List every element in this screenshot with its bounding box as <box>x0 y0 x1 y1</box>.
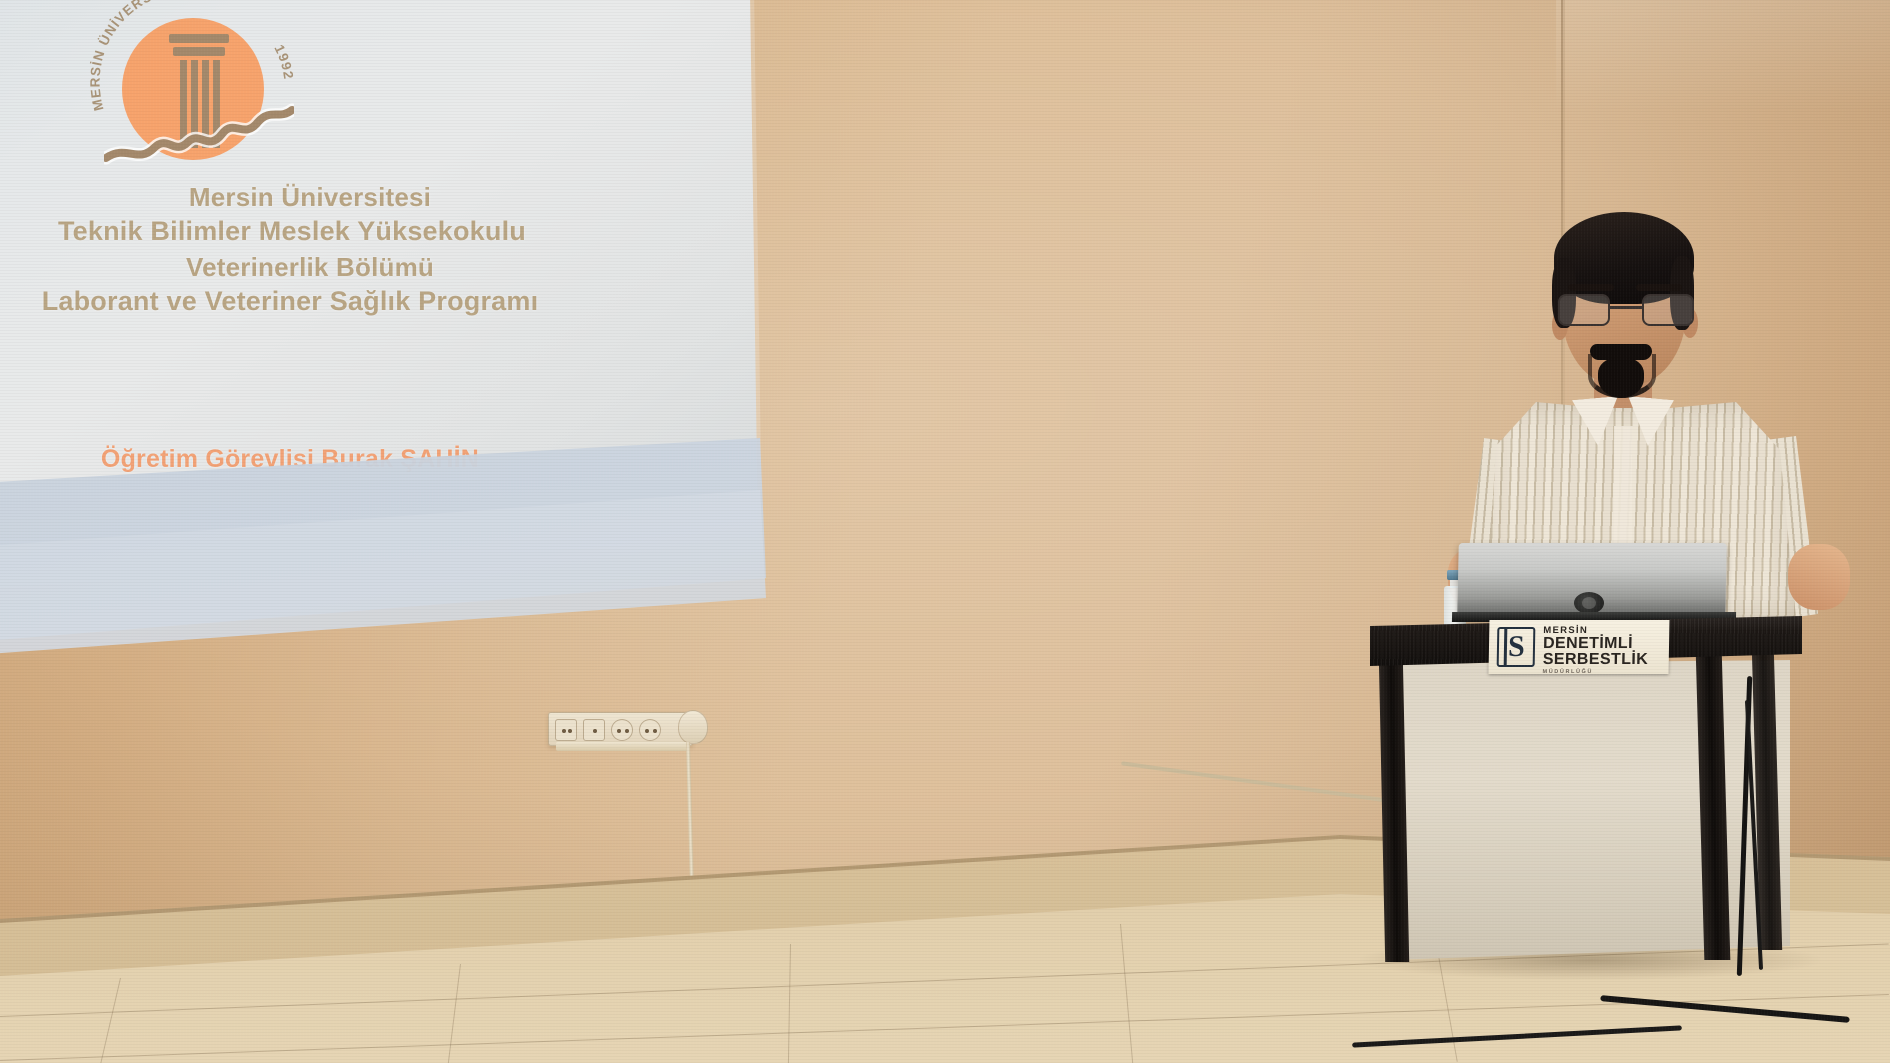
logo-ring-left-text: MERSİN ÜNİVERSİTESİ <box>88 0 192 112</box>
presenter-goatee <box>1598 358 1644 398</box>
svg-text:1992: 1992 <box>271 42 296 80</box>
laptop-brand-logo-icon <box>1574 592 1604 614</box>
presenter-eyebrow-right <box>1636 284 1682 291</box>
podium-sign-line-3: SERBESTLİK <box>1543 652 1649 668</box>
socket-outlet-3[interactable] <box>611 719 633 741</box>
ds-monogram-icon <box>1497 627 1536 667</box>
presenter-hand-right <box>1788 544 1850 610</box>
slide-line-2: Teknik Bilimler Meslek Yüksekokulu <box>0 214 660 250</box>
eyeglasses-icon <box>1558 294 1694 328</box>
slide-text-block: Mersin Üniversitesi Teknik Bilimler Mesl… <box>0 180 660 320</box>
svg-text:MERSİN ÜNİVERSİTESİ: MERSİN ÜNİVERSİTESİ <box>88 0 192 112</box>
podium-sign-line-4: MÜDÜRLÜĞÜ <box>1542 668 1647 676</box>
socket-outlet-2[interactable] <box>583 719 605 741</box>
presenter-eyebrow-left <box>1568 284 1614 291</box>
wall-socket-panel[interactable] <box>548 712 693 746</box>
logo-ring-right-text: 1992 <box>271 42 296 80</box>
socket-cable-trunk <box>556 742 688 751</box>
logo-ring-text: MERSİN ÜNİVERSİTESİ 1992 <box>86 0 306 180</box>
slide-line-1: Mersin Üniversitesi <box>0 180 660 214</box>
podium-front-panel <box>1390 660 1790 960</box>
podium-sign-line-2: DENETİMLİ <box>1543 636 1649 652</box>
photo-scene: MERSİN ÜNİVERSİTESİ 1992 Mersin Üniversi… <box>0 0 1890 1063</box>
socket-outlet-1[interactable] <box>555 719 577 741</box>
socket-outlet-4[interactable] <box>639 719 661 741</box>
slide-line-4: Laborant ve Veteriner Sağlık Programı <box>0 284 660 320</box>
socket-switch[interactable] <box>678 710 708 744</box>
mersin-universitesi-logo: MERSİN ÜNİVERSİTESİ 1992 <box>86 0 306 180</box>
podium-sign: MERSİN DENETİMLİ SERBESTLİK MÜDÜRLÜĞÜ <box>1489 620 1670 674</box>
slide-line-3: Veterinerlik Bölümü <box>0 250 660 284</box>
